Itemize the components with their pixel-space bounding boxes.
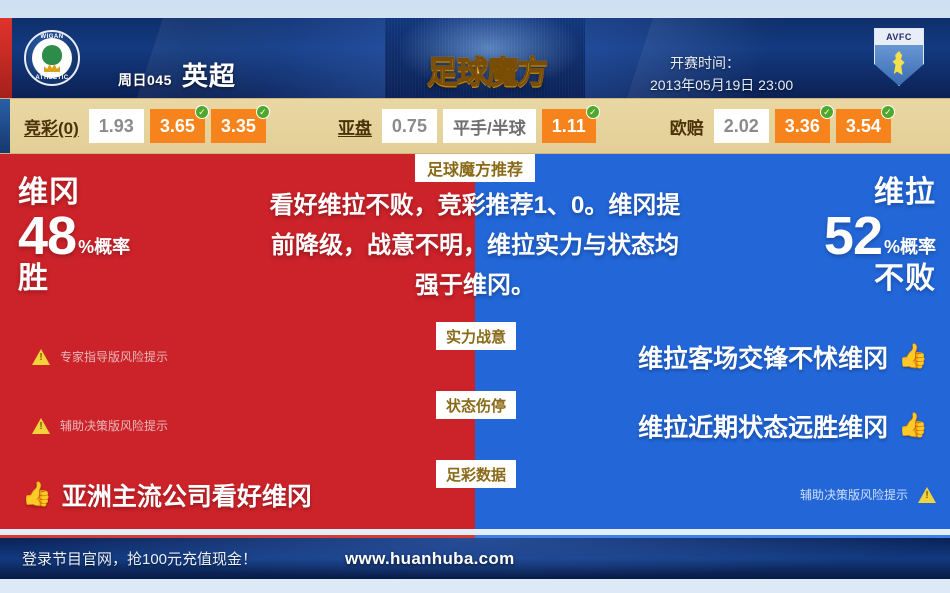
odds-cell[interactable]: 1.93 bbox=[89, 109, 144, 143]
home-badge-bottom-text: ATHLETIC bbox=[26, 75, 78, 81]
warning-icon bbox=[32, 418, 50, 434]
match-header: WIGAN ATHLETIC 周日045 英超 足球魔方 开赛时间： 2013年… bbox=[0, 18, 950, 98]
away-probability: 维拉 52 %概率 不败 bbox=[824, 176, 936, 296]
odds-bar: 竞彩(0) 1.93 3.65✓ 3.35✓ 亚盘 0.75 平手/半球 1.1… bbox=[0, 98, 950, 154]
kickoff-label: 开赛时间： bbox=[650, 52, 850, 74]
insight-statement: 维拉客场交锋不怵维冈 👍 bbox=[638, 339, 928, 375]
away-team-name: 维拉 bbox=[824, 176, 936, 210]
kickoff-value: 2013年05月19日 23:00 bbox=[650, 74, 850, 96]
insight-row-tag: 实力战意 bbox=[436, 322, 516, 350]
insight-row-left: 专家指导版风险提示 bbox=[0, 322, 475, 391]
footer-accent-blue bbox=[475, 535, 950, 538]
match-round: 周日045 bbox=[118, 70, 172, 90]
wigan-crest-icon: WIGAN ATHLETIC bbox=[24, 30, 80, 86]
thumbs-up-icon: 👍 bbox=[898, 414, 928, 438]
away-outcome: 不败 bbox=[824, 262, 936, 296]
check-icon: ✓ bbox=[881, 105, 895, 119]
insight-statement-text: 亚洲主流公司看好维冈 bbox=[62, 477, 312, 513]
footer-bar: 登录节目官网，抢100元充值现金！ www.huanhuba.com bbox=[0, 535, 950, 579]
odds-value: 2.02 bbox=[724, 116, 759, 137]
away-badge-text: AVFC bbox=[875, 29, 923, 45]
lion-icon bbox=[891, 51, 907, 75]
risk-note: 专家指导版风险提示 bbox=[32, 348, 168, 365]
check-icon: ✓ bbox=[586, 105, 600, 119]
away-probability-unit: %概率 bbox=[882, 238, 936, 262]
odds-cell[interactable]: 0.75 bbox=[382, 109, 437, 143]
insight-rows: 专家指导版风险提示 维拉客场交锋不怵维冈 👍 实力战意 辅助决策版风险提示 bbox=[0, 322, 950, 535]
brand-logo: 足球魔方 bbox=[408, 46, 566, 92]
odds-cell[interactable]: 3.36✓ bbox=[775, 109, 830, 143]
insight-row-right: 维拉客场交锋不怵维冈 👍 bbox=[475, 322, 950, 391]
insight-statement: 👍 亚洲主流公司看好维冈 bbox=[22, 477, 312, 513]
kickoff-time: 开赛时间： 2013年05月19日 23:00 bbox=[650, 52, 850, 96]
odds-value: 平手/半球 bbox=[453, 114, 526, 139]
tree-icon bbox=[42, 45, 62, 65]
insight-row-right: 辅助决策版风险提示 bbox=[475, 460, 950, 529]
odds-value: 3.36 bbox=[785, 116, 820, 137]
match-preview-graphic: WIGAN ATHLETIC 周日045 英超 足球魔方 开赛时间： 2013年… bbox=[0, 0, 950, 593]
check-icon: ✓ bbox=[195, 105, 209, 119]
thumbs-up-icon: 👍 bbox=[898, 345, 928, 369]
away-team-badge: AVFC bbox=[874, 28, 932, 86]
odds-value: 3.54 bbox=[846, 116, 881, 137]
insight-statement-text: 维拉近期状态远胜维冈 bbox=[638, 408, 888, 444]
odds-group-label: 欧赔 bbox=[670, 114, 704, 139]
aston-villa-crest-icon: AVFC bbox=[874, 28, 924, 86]
odds-value: 0.75 bbox=[392, 116, 427, 137]
home-probability: 维冈 48 %概率 胜 bbox=[18, 176, 130, 296]
risk-note-text: 辅助决策版风险提示 bbox=[60, 417, 168, 434]
check-icon: ✓ bbox=[820, 105, 834, 119]
odds-group-label: 亚盘 bbox=[338, 114, 372, 139]
warning-icon bbox=[32, 349, 50, 365]
odds-cell[interactable]: 3.65✓ bbox=[150, 109, 205, 143]
insight-statement-text: 维拉客场交锋不怵维冈 bbox=[638, 339, 888, 375]
home-probability-value: 48 bbox=[18, 210, 76, 262]
insight-row-right: 维拉近期状态远胜维冈 👍 bbox=[475, 391, 950, 460]
crown-icon bbox=[44, 64, 60, 72]
odds-value: 1.11 bbox=[552, 116, 586, 137]
recommendation-tag: 足球魔方推荐 bbox=[415, 154, 535, 182]
insight-statement: 维拉近期状态远胜维冈 👍 bbox=[638, 408, 928, 444]
odds-value: 1.93 bbox=[99, 116, 134, 137]
insight-row-tag: 状态伤停 bbox=[436, 391, 516, 419]
odds-group-yapan: 亚盘 0.75 平手/半球 1.11✓ bbox=[338, 109, 596, 143]
odds-cell-handicap[interactable]: 平手/半球 bbox=[443, 109, 536, 143]
odds-value: 3.65 bbox=[160, 116, 195, 137]
insight-row-left: 👍 亚洲主流公司看好维冈 bbox=[0, 460, 475, 529]
odds-group-jingcai: 竞彩(0) 1.93 3.65✓ 3.35✓ bbox=[24, 109, 266, 143]
check-icon: ✓ bbox=[256, 105, 270, 119]
risk-note: 辅助决策版风险提示 bbox=[800, 486, 936, 503]
insight-row: 辅助决策版风险提示 维拉近期状态远胜维冈 👍 状态伤停 bbox=[0, 391, 950, 460]
odds-cell[interactable]: 1.11✓ bbox=[542, 109, 596, 143]
odds-group-label: 竞彩(0) bbox=[24, 114, 79, 139]
prediction-panel: 维冈 48 %概率 胜 维拉 52 %概率 不败 足球魔方推荐 看好维拉不败，竞… bbox=[0, 154, 950, 322]
risk-note-text: 辅助决策版风险提示 bbox=[800, 486, 908, 503]
footer-promo: 登录节目官网，抢100元充值现金！ bbox=[22, 548, 257, 569]
footer-website-link[interactable]: www.huanhuba.com bbox=[345, 549, 514, 569]
risk-note-text: 专家指导版风险提示 bbox=[60, 348, 168, 365]
risk-note: 辅助决策版风险提示 bbox=[32, 417, 168, 434]
home-probability-unit: %概率 bbox=[76, 238, 130, 262]
insight-row: 专家指导版风险提示 维拉客场交锋不怵维冈 👍 实力战意 bbox=[0, 322, 950, 391]
odds-cell[interactable]: 3.54✓ bbox=[836, 109, 891, 143]
warning-icon bbox=[918, 487, 936, 503]
home-team-badge: WIGAN ATHLETIC bbox=[24, 30, 82, 88]
wigan-crest-inner bbox=[32, 38, 72, 78]
brand-logo-text: 足球魔方 bbox=[427, 47, 547, 92]
odds-cell[interactable]: 2.02 bbox=[714, 109, 769, 143]
odds-value: 3.35 bbox=[221, 116, 256, 137]
home-outcome: 胜 bbox=[18, 262, 130, 296]
insight-row: 👍 亚洲主流公司看好维冈 辅助决策版风险提示 足彩数据 bbox=[0, 460, 950, 529]
match-league: 英超 bbox=[182, 56, 236, 93]
odds-group-oupei: 欧赔 2.02 3.36✓ 3.54✓ bbox=[670, 109, 891, 143]
insight-row-left: 辅助决策版风险提示 bbox=[0, 391, 475, 460]
thumbs-up-icon: 👍 bbox=[22, 483, 52, 507]
match-title: 周日045 英超 bbox=[118, 56, 236, 93]
recommendation-text: 看好维拉不败，竞彩推荐1、0。维冈提前降级，战意不明，维拉实力与状态均强于维冈。 bbox=[260, 186, 690, 306]
away-probability-value: 52 bbox=[824, 210, 882, 262]
odds-cell[interactable]: 3.35✓ bbox=[211, 109, 266, 143]
home-team-name: 维冈 bbox=[18, 176, 130, 210]
footer-accent-red bbox=[0, 535, 475, 538]
insight-row-tag: 足彩数据 bbox=[436, 460, 516, 488]
